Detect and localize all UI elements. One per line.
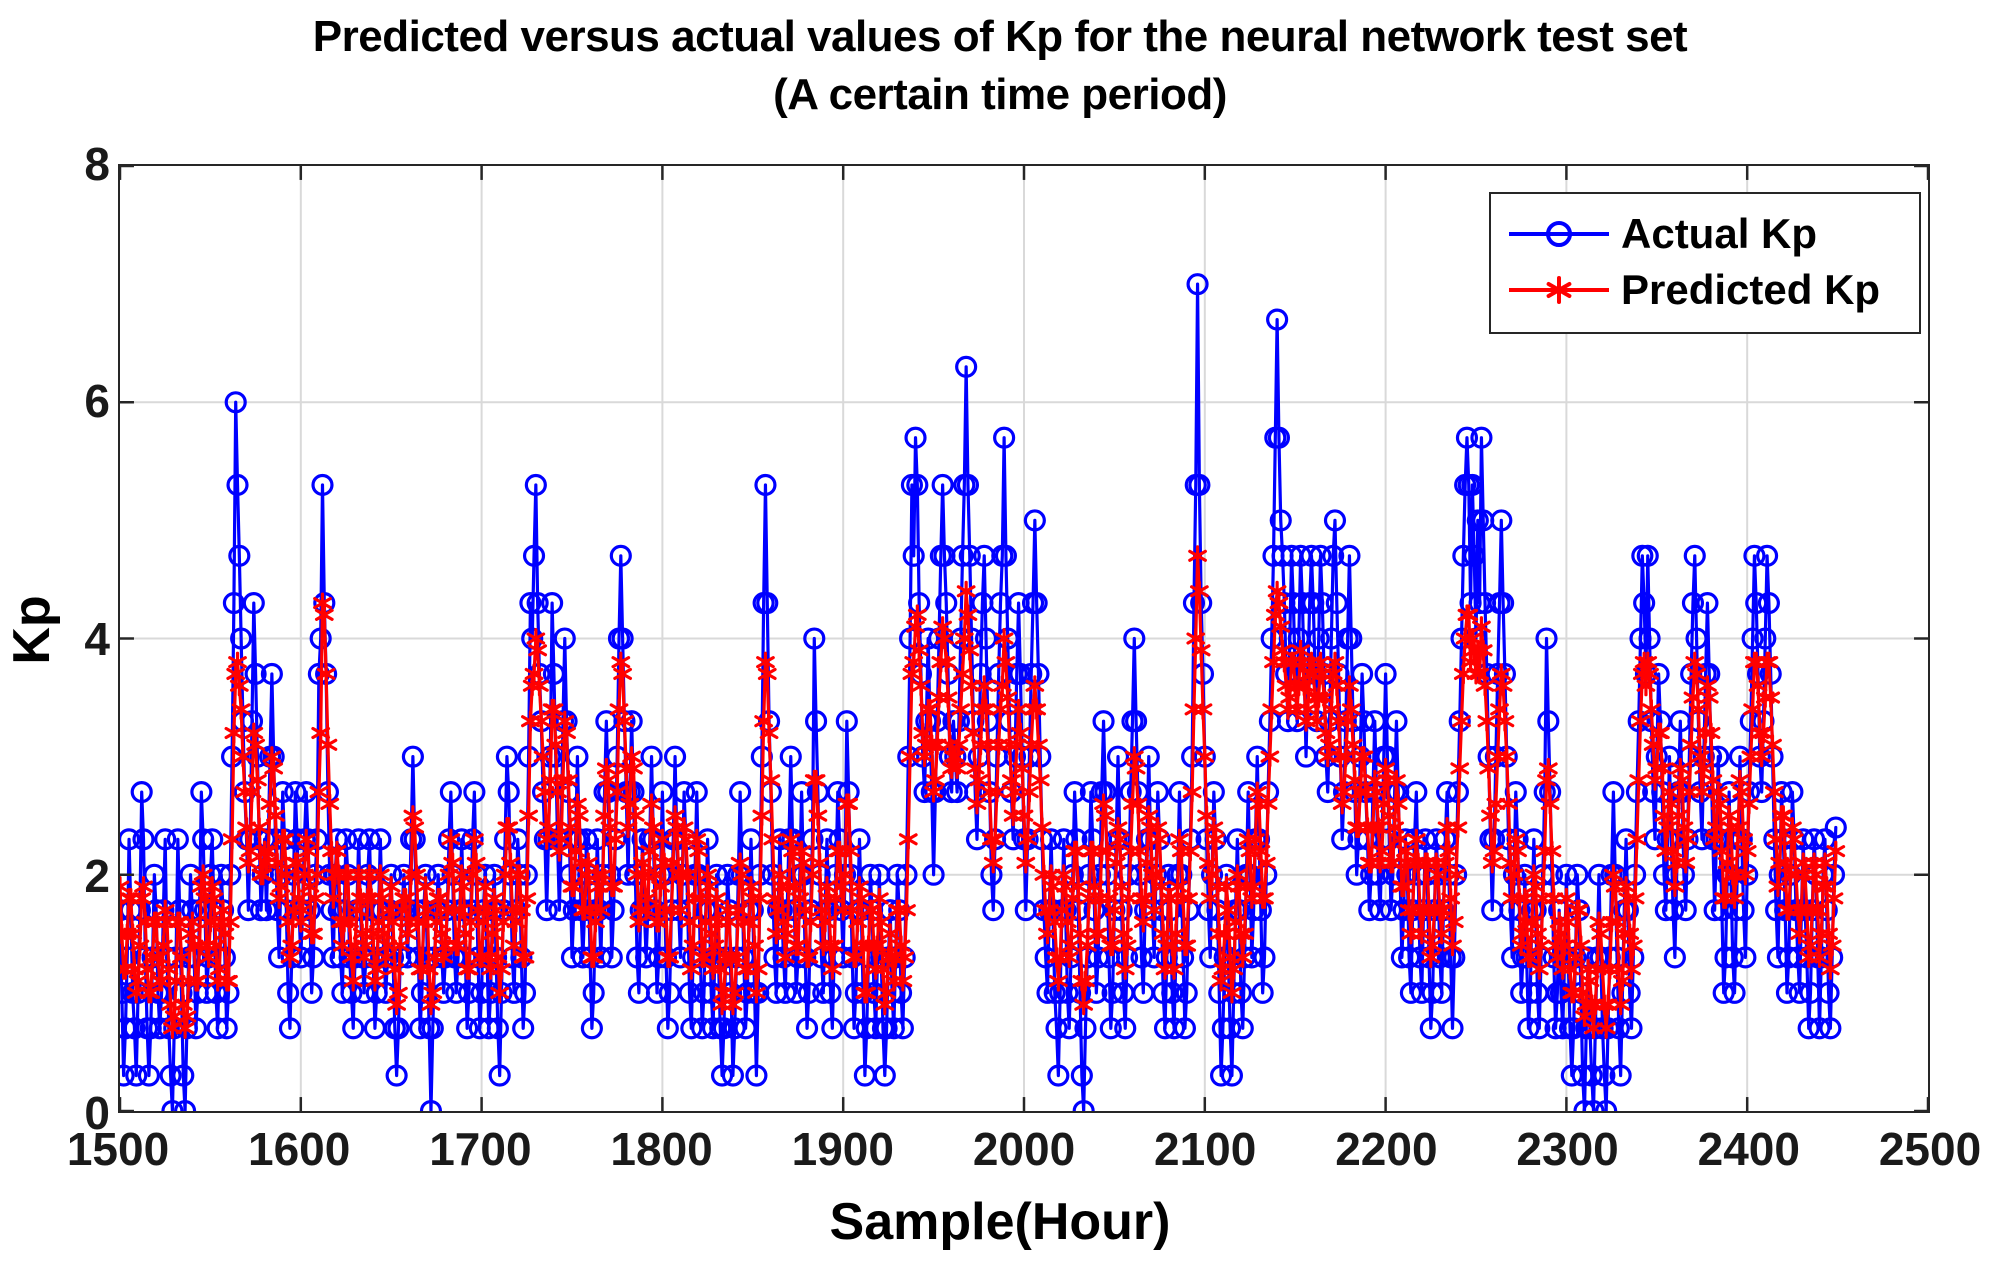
y-tick-label-6: 6 — [30, 378, 110, 424]
x-tick-label-2400: 2400 — [1649, 1122, 1849, 1176]
legend-line-circle-icon — [1507, 214, 1611, 254]
y-axis-title: Kp — [2, 530, 62, 730]
x-tick-label-2100: 2100 — [1105, 1122, 1305, 1176]
chart-legend[interactable]: Actual Kp Predicted Kp — [1489, 192, 1921, 334]
x-tick-label-1700: 1700 — [380, 1122, 580, 1176]
x-tick-label-2300: 2300 — [1468, 1122, 1668, 1176]
x-tick-label-1600: 1600 — [199, 1122, 399, 1176]
chart-title: Predicted versus actual values of Kp for… — [0, 8, 2000, 124]
y-tick-label-2: 2 — [30, 853, 110, 899]
legend-line-asterisk-icon — [1507, 270, 1611, 310]
x-tick-label-1800: 1800 — [562, 1122, 762, 1176]
chart-title-line-1: Predicted versus actual values of Kp for… — [0, 8, 2000, 66]
legend-label-predicted: Predicted Kp — [1611, 267, 1880, 313]
x-axis-title: Sample(Hour) — [0, 1192, 2000, 1252]
x-tick-label-1500: 1500 — [18, 1122, 218, 1176]
legend-item-actual[interactable]: Actual Kp — [1507, 206, 1903, 262]
legend-item-predicted[interactable]: Predicted Kp — [1507, 262, 1903, 318]
y-tick-label-8: 8 — [30, 141, 110, 187]
x-tick-label-2500: 2500 — [1830, 1122, 2000, 1176]
chart-title-line-2: (A certain time period) — [0, 66, 2000, 124]
x-tick-label-2000: 2000 — [924, 1122, 1124, 1176]
figure-root: Predicted versus actual values of Kp for… — [0, 0, 2000, 1277]
x-tick-label-1900: 1900 — [743, 1122, 943, 1176]
legend-label-actual: Actual Kp — [1611, 211, 1817, 257]
x-tick-label-2200: 2200 — [1286, 1122, 1486, 1176]
